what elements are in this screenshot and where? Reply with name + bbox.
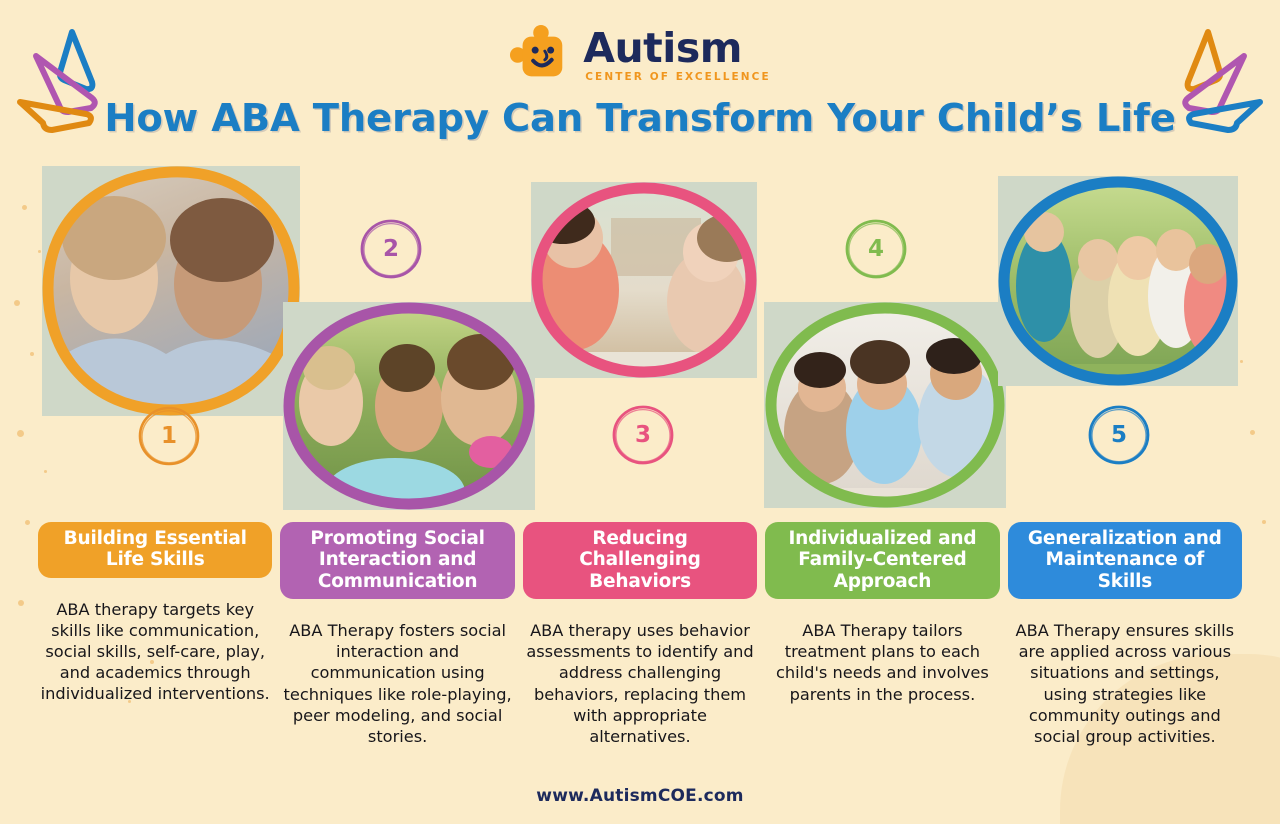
step-number-badge-3: 3 bbox=[610, 402, 676, 468]
step-title-badge-2: Promoting Social Interaction and Communi… bbox=[280, 522, 514, 599]
photo-step-3 bbox=[531, 182, 757, 378]
step-column-2: Promoting Social Interaction and Communi… bbox=[276, 522, 518, 747]
step-title-wrap-3: Reducing Challenging Behaviors bbox=[523, 522, 757, 599]
step-number-badge-4: 4 bbox=[843, 216, 909, 282]
step-title-wrap-5: Generalization and Maintenance of Skills bbox=[1008, 522, 1242, 599]
step-title-badge-1: Building Essential Life Skills bbox=[38, 522, 272, 578]
step-description-2: ABA Therapy fosters social interaction a… bbox=[280, 620, 514, 746]
step-number-label-2: 2 bbox=[383, 238, 399, 261]
step-number-badge-2: 2 bbox=[358, 216, 424, 282]
step-number-label-5: 5 bbox=[1111, 424, 1127, 447]
step-column-5: Generalization and Maintenance of Skills… bbox=[1004, 522, 1246, 747]
step-column-3: Reducing Challenging Behaviors ABA thera… bbox=[519, 522, 761, 747]
step-title-wrap-2: Promoting Social Interaction and Communi… bbox=[280, 522, 514, 599]
step-description-3: ABA therapy uses behavior assessments to… bbox=[523, 620, 757, 746]
step-description-4: ABA Therapy tailors treatment plans to e… bbox=[765, 620, 999, 704]
step-number-label-1: 1 bbox=[161, 425, 177, 448]
autism-puzzle-smiley-logo-icon bbox=[509, 24, 571, 86]
step-number-badge-5: 5 bbox=[1086, 402, 1152, 468]
steps-column-list: Building Essential Life Skills ABA thera… bbox=[0, 522, 1280, 747]
step-title-wrap-4: Individualized and Family-Centered Appro… bbox=[765, 522, 999, 599]
step-title-badge-3: Reducing Challenging Behaviors bbox=[523, 522, 757, 599]
step-description-5: ABA Therapy ensures skills are applied a… bbox=[1008, 620, 1242, 746]
photo-step-1 bbox=[42, 166, 300, 416]
photo-step-5 bbox=[998, 176, 1238, 386]
photo-step-4 bbox=[764, 302, 1006, 508]
step-column-4: Individualized and Family-Centered Appro… bbox=[761, 522, 1003, 747]
brand-logo: Autism CENTER OF EXCELLENCE bbox=[0, 24, 1280, 86]
logo-tagline: CENTER OF EXCELLENCE bbox=[585, 72, 771, 83]
step-number-badge-1: 1 bbox=[136, 403, 202, 469]
step-description-1: ABA therapy targets key skills like comm… bbox=[38, 599, 272, 704]
step-column-1: Building Essential Life Skills ABA thera… bbox=[34, 522, 276, 747]
step-title-badge-5: Generalization and Maintenance of Skills bbox=[1008, 522, 1242, 599]
step-number-label-3: 3 bbox=[635, 424, 651, 447]
infographic-canvas: Autism CENTER OF EXCELLENCE How ABA Ther… bbox=[0, 0, 1280, 824]
page-title: How ABA Therapy Can Transform Your Child… bbox=[0, 96, 1280, 141]
logo-wordmark: Autism bbox=[583, 28, 771, 69]
step-number-label-4: 4 bbox=[868, 238, 884, 261]
step-title-badge-4: Individualized and Family-Centered Appro… bbox=[765, 522, 999, 599]
photo-step-2 bbox=[283, 302, 535, 510]
step-title-wrap-1: Building Essential Life Skills bbox=[38, 522, 272, 578]
footer-website[interactable]: www.AutismCOE.com bbox=[0, 786, 1280, 806]
